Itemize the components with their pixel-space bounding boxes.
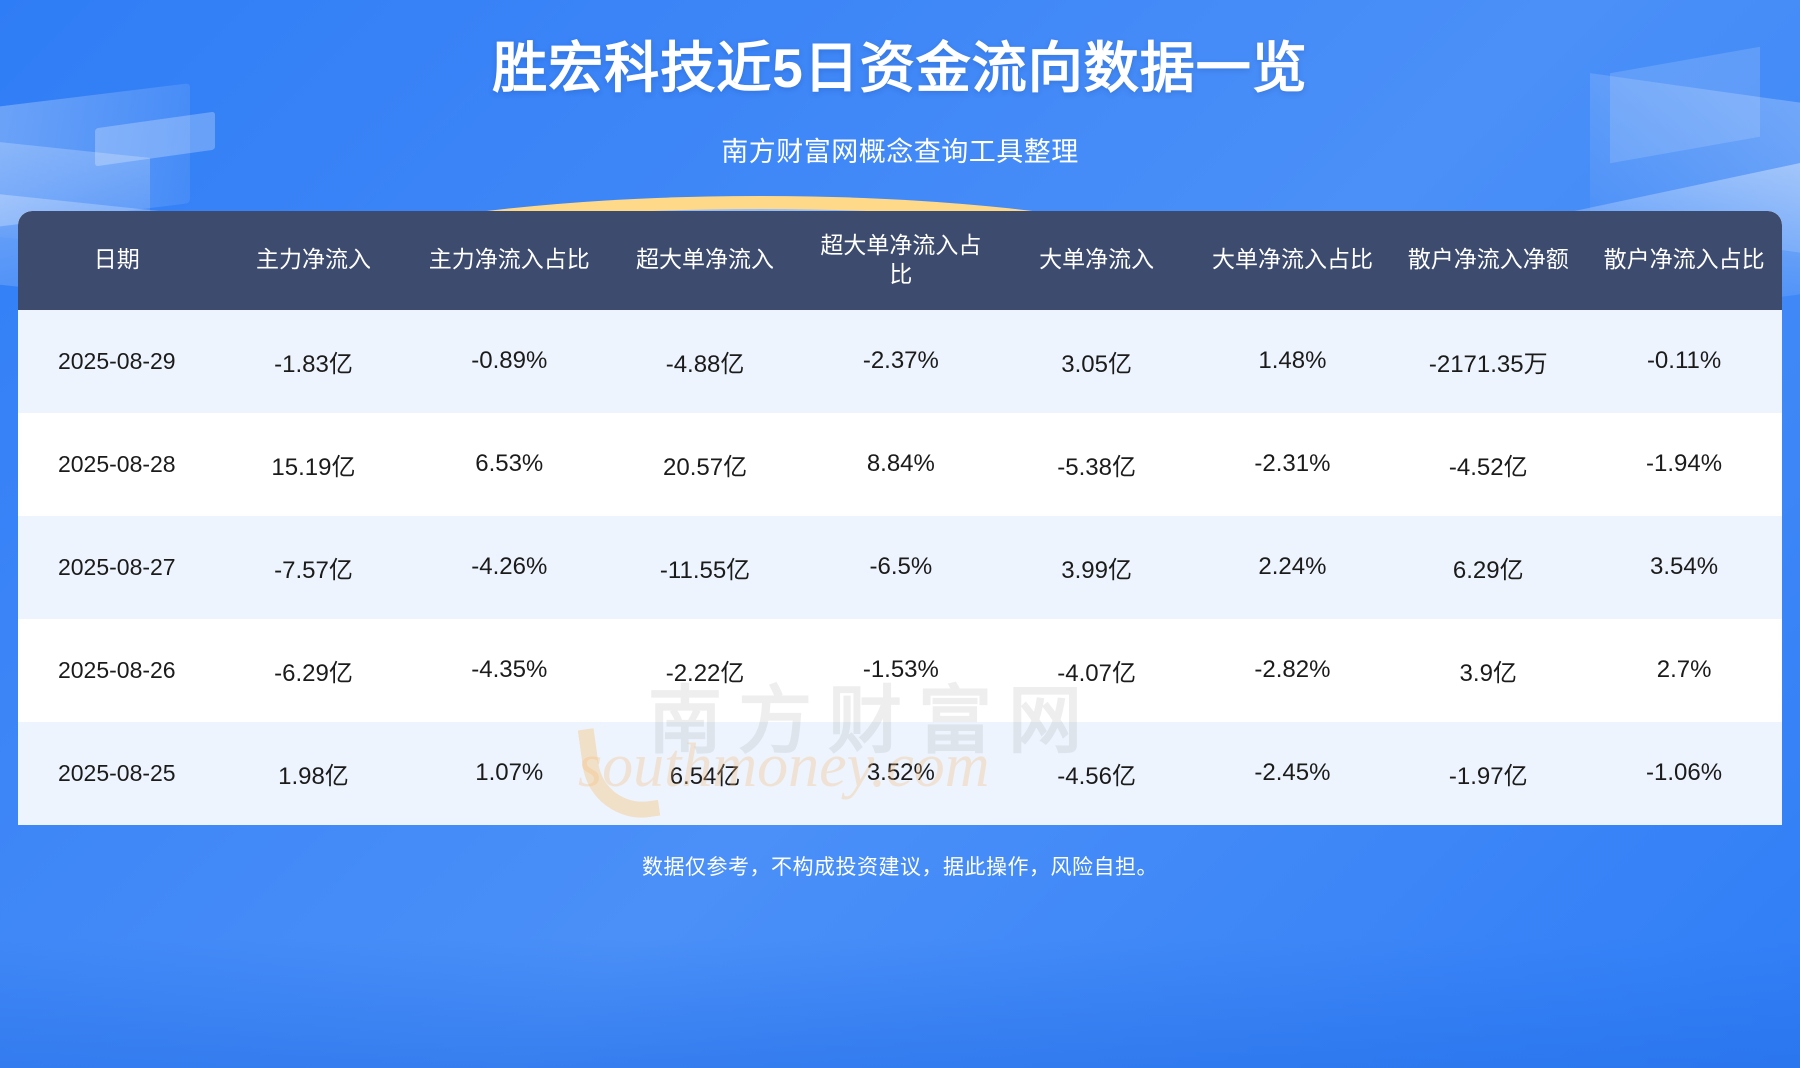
cell-lg-net: 3.99亿: [999, 516, 1195, 619]
cell-retail-pct: -1.94%: [1586, 413, 1782, 516]
cell-retail-pct: -1.06%: [1586, 722, 1782, 825]
cell-main-pct: -0.89%: [411, 310, 607, 413]
cell-main-net: -7.57亿: [216, 516, 412, 619]
cell-lg-net: -4.07亿: [999, 619, 1195, 722]
cell-retail-pct: 2.7%: [1586, 619, 1782, 722]
cell-main-net: 1.98亿: [216, 722, 412, 825]
table-row: 2025-08-27 -7.57亿 -4.26% -11.55亿 -6.5% 3…: [18, 516, 1782, 619]
cell-xl-pct: -2.37%: [803, 310, 999, 413]
table-row: 2025-08-25 1.98亿 1.07% 6.54亿 3.52% -4.56…: [18, 722, 1782, 825]
cell-lg-pct: 2.24%: [1195, 516, 1391, 619]
cell-main-net: 15.19亿: [216, 413, 412, 516]
table-header-row: 日期 主力净流入 主力净流入占比 超大单净流入 超大单净流入占比 大单净流入 大…: [18, 211, 1782, 310]
fundflow-table: 日期 主力净流入 主力净流入占比 超大单净流入 超大单净流入占比 大单净流入 大…: [18, 211, 1782, 825]
cell-xl-net: 20.57亿: [607, 413, 803, 516]
column-header-xl-pct: 超大单净流入占比: [803, 211, 999, 310]
column-header-retail-pct: 散户净流入占比: [1586, 211, 1782, 310]
cell-main-pct: 6.53%: [411, 413, 607, 516]
cell-lg-pct: -2.31%: [1195, 413, 1391, 516]
table-row: 2025-08-26 -6.29亿 -4.35% -2.22亿 -1.53% -…: [18, 619, 1782, 722]
table-header: 日期 主力净流入 主力净流入占比 超大单净流入 超大单净流入占比 大单净流入 大…: [18, 211, 1782, 310]
cell-date: 2025-08-27: [18, 516, 216, 619]
cell-lg-pct: -2.82%: [1195, 619, 1391, 722]
cell-date: 2025-08-28: [18, 413, 216, 516]
cell-main-net: -6.29亿: [216, 619, 412, 722]
cell-lg-net: -5.38亿: [999, 413, 1195, 516]
table-body: 2025-08-29 -1.83亿 -0.89% -4.88亿 -2.37% 3…: [18, 310, 1782, 825]
infographic-page: 胜宏科技近5日资金流向数据一览 南方财富网概念查询工具整理 日期 主力净流入 主…: [0, 0, 1800, 1068]
cell-retail-net: -2171.35万: [1390, 310, 1586, 413]
page-subtitle: 南方财富网概念查询工具整理: [0, 130, 1800, 169]
table-row: 2025-08-28 15.19亿 6.53% 20.57亿 8.84% -5.…: [18, 413, 1782, 516]
page-title: 胜宏科技近5日资金流向数据一览: [0, 34, 1800, 103]
cell-xl-net: -4.88亿: [607, 310, 803, 413]
cell-main-pct: -4.35%: [411, 619, 607, 722]
cell-retail-net: -1.97亿: [1390, 722, 1586, 825]
banner-header: 胜宏科技近5日资金流向数据一览 南方财富网概念查询工具整理: [0, 0, 1800, 169]
column-header-main-pct: 主力净流入占比: [411, 211, 607, 310]
cell-xl-pct: 8.84%: [803, 413, 999, 516]
column-header-retail-net: 散户净流入净额: [1390, 211, 1586, 310]
decor-bottom-fade: [0, 938, 1800, 1068]
column-header-lg-pct: 大单净流入占比: [1195, 211, 1391, 310]
column-header-date: 日期: [18, 211, 216, 310]
fundflow-table-container: 日期 主力净流入 主力净流入占比 超大单净流入 超大单净流入占比 大单净流入 大…: [18, 211, 1782, 825]
column-header-main-net: 主力净流入: [216, 211, 412, 310]
cell-lg-pct: 1.48%: [1195, 310, 1391, 413]
cell-main-net: -1.83亿: [216, 310, 412, 413]
cell-main-pct: -4.26%: [411, 516, 607, 619]
disclaimer-note: 数据仅参考，不构成投资建议，据此操作，风险自担。: [0, 851, 1800, 881]
column-header-xl-net: 超大单净流入: [607, 211, 803, 310]
cell-main-pct: 1.07%: [411, 722, 607, 825]
cell-date: 2025-08-26: [18, 619, 216, 722]
cell-retail-net: -4.52亿: [1390, 413, 1586, 516]
cell-lg-net: -4.56亿: [999, 722, 1195, 825]
cell-retail-net: 6.29亿: [1390, 516, 1586, 619]
cell-xl-net: -2.22亿: [607, 619, 803, 722]
cell-xl-pct: 3.52%: [803, 722, 999, 825]
cell-lg-net: 3.05亿: [999, 310, 1195, 413]
cell-date: 2025-08-25: [18, 722, 216, 825]
cell-xl-net: -11.55亿: [607, 516, 803, 619]
table-row: 2025-08-29 -1.83亿 -0.89% -4.88亿 -2.37% 3…: [18, 310, 1782, 413]
cell-retail-net: 3.9亿: [1390, 619, 1586, 722]
cell-lg-pct: -2.45%: [1195, 722, 1391, 825]
cell-retail-pct: 3.54%: [1586, 516, 1782, 619]
cell-xl-pct: -1.53%: [803, 619, 999, 722]
column-header-lg-net: 大单净流入: [999, 211, 1195, 310]
cell-retail-pct: -0.11%: [1586, 310, 1782, 413]
cell-date: 2025-08-29: [18, 310, 216, 413]
cell-xl-pct: -6.5%: [803, 516, 999, 619]
cell-xl-net: 6.54亿: [607, 722, 803, 825]
